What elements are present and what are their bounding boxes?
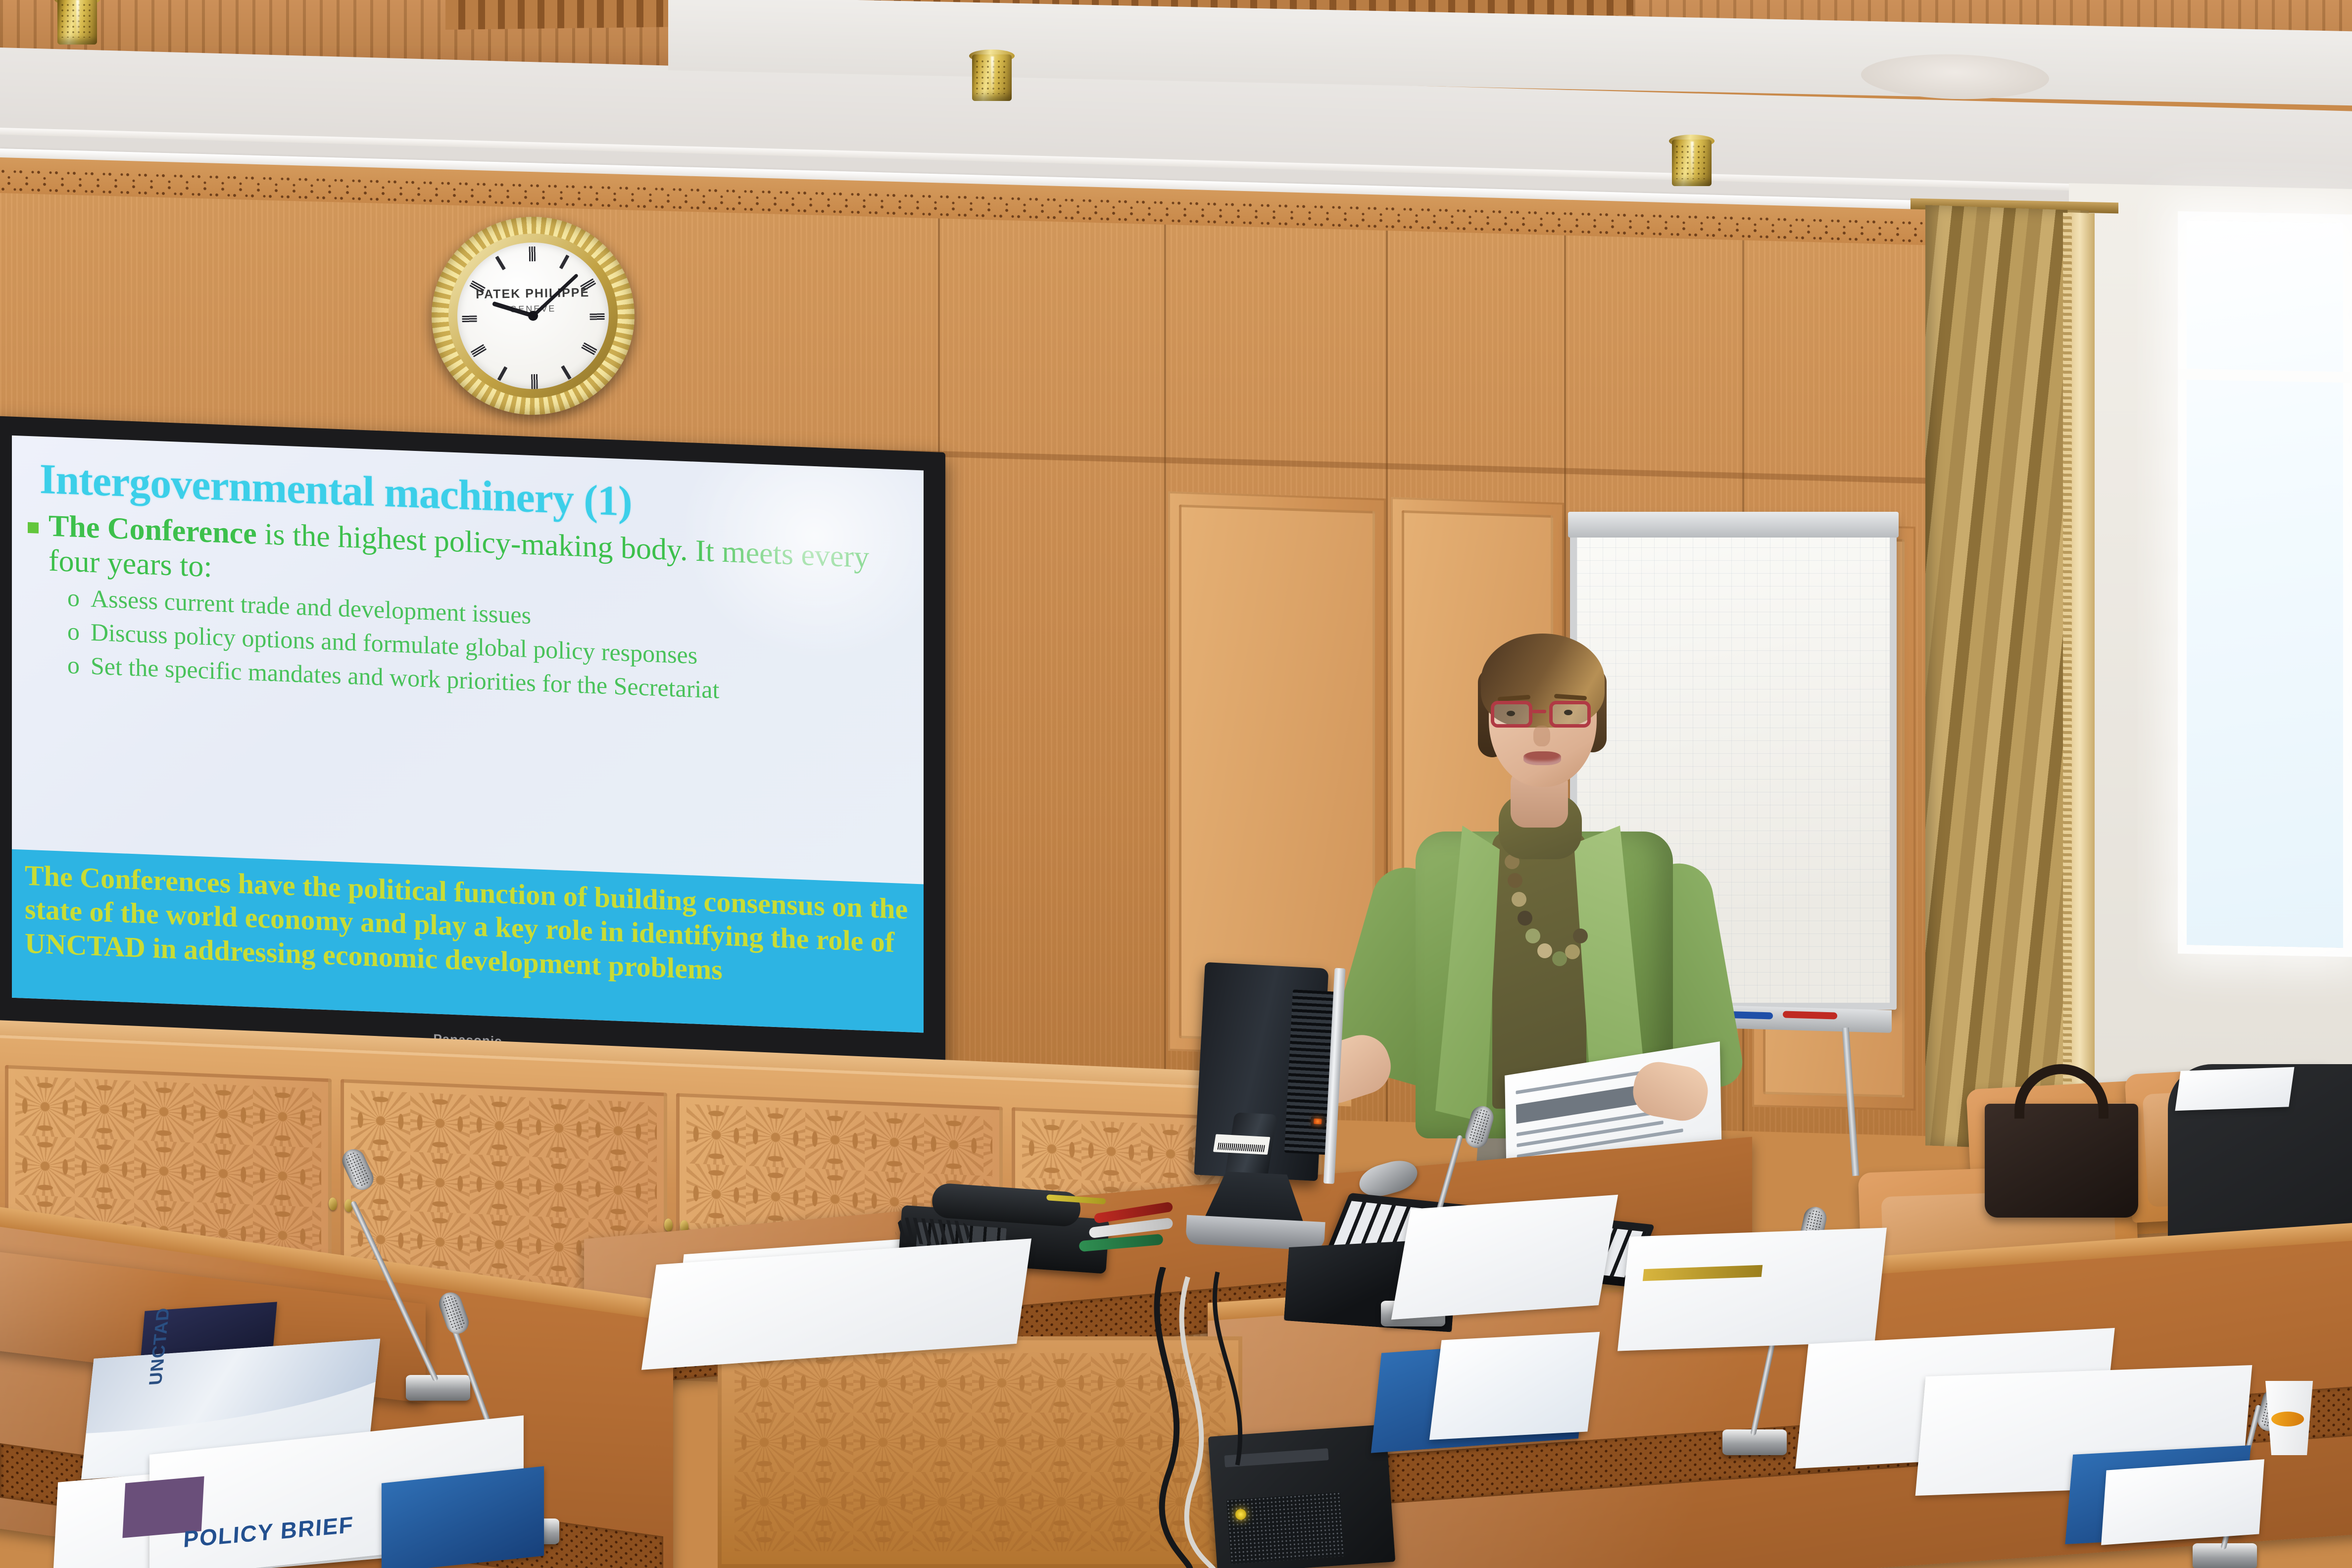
window-glass — [2187, 220, 2343, 948]
presenter-necklace — [1501, 849, 1580, 1008]
presentation-display[interactable]: Intergovernmental machinery (1) The Conf… — [0, 416, 945, 1081]
presenter-eye-right — [1564, 710, 1572, 715]
slide-content: Intergovernmental machinery (1) The Conf… — [12, 436, 924, 1033]
slide-callout-box: The Conferences have the political funct… — [12, 849, 924, 1033]
phone-cord — [894, 1217, 970, 1247]
sub-marker: o — [67, 583, 80, 613]
lcd-monitor[interactable] — [1171, 961, 1349, 1247]
handbag[interactable] — [1985, 1104, 2138, 1218]
curtain-fringe — [2063, 213, 2072, 1149]
brass-lamp-icon — [54, 0, 100, 47]
wall-clock: PATEK PHILIPPE GENEVE — [430, 215, 637, 416]
cabinet-knob-icon[interactable] — [664, 1219, 673, 1232]
booklet-stack[interactable] — [1429, 1332, 1600, 1440]
desk-paper[interactable] — [2101, 1459, 2264, 1545]
desk-paper-far[interactable] — [2175, 1067, 2294, 1111]
brass-lamp-icon — [1669, 133, 1715, 188]
clock-brand-label: PATEK PHILIPPE — [457, 285, 608, 302]
square-bullet-icon — [28, 522, 39, 534]
presenter-eye-left — [1507, 711, 1515, 716]
sub-marker: o — [67, 650, 80, 680]
monitor-power-led — [1311, 1116, 1326, 1127]
cabinet-knob-icon[interactable] — [329, 1197, 337, 1211]
curtain-edge — [2068, 212, 2095, 1149]
open-newsletter[interactable] — [1617, 1227, 1887, 1351]
presenter-mouth — [1523, 751, 1561, 765]
presenter-nose — [1533, 726, 1550, 746]
brass-lamp-icon — [969, 48, 1015, 103]
wall-seam — [1164, 225, 1166, 1116]
cup-logo — [2271, 1412, 2304, 1426]
mic-base — [406, 1375, 470, 1401]
display-frame: Intergovernmental machinery (1) The Conf… — [0, 416, 945, 1081]
display-screen: Intergovernmental machinery (1) The Conf… — [12, 436, 924, 1033]
clock-center-cap — [528, 311, 538, 321]
monitor-barcode-sticker — [1213, 1134, 1271, 1155]
desk-document[interactable] — [1391, 1195, 1618, 1320]
mic-head — [1463, 1103, 1496, 1150]
flipchart-top-rail — [1568, 512, 1899, 538]
blue-publication[interactable] — [382, 1466, 544, 1568]
easel-leg — [1842, 1028, 1860, 1176]
window-frame — [2178, 211, 2352, 957]
sub-marker: o — [67, 616, 80, 646]
conference-room-scene: PATEK PHILIPPE GENEVE Intergovernmental … — [0, 0, 2352, 1568]
